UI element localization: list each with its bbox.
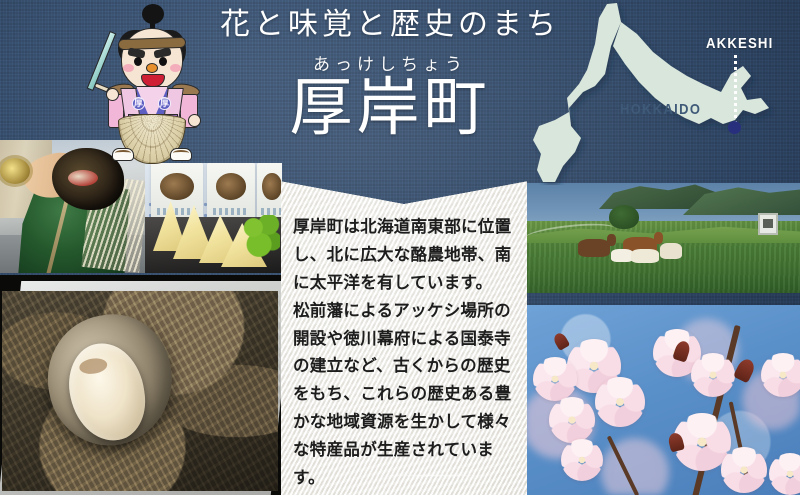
pasture-horse	[578, 239, 610, 257]
map-region-label: HOKKAIDO	[620, 101, 701, 118]
photo-oysters-in-tray	[0, 275, 282, 495]
mascot-nose	[146, 63, 158, 73]
pasture-horse	[660, 243, 682, 259]
description-panel: 厚岸町は北海道南東部に位置し、北に広大な酪農地帯、南に太平洋を有しています。 松…	[281, 170, 527, 495]
title-block: 花と味覚と歴史のまち あっけしちょう 厚岸町	[210, 8, 570, 140]
description-body: 厚岸町は北海道南東部に位置し、北に広大な酪農地帯、南に太平洋を有しています。 松…	[293, 214, 517, 493]
pasture-horse	[611, 249, 633, 262]
mascot-eye-right	[159, 57, 167, 66]
map-location-marker-dot	[728, 121, 741, 134]
sakura-blossom	[761, 353, 800, 397]
mascot-hand-right	[188, 114, 201, 127]
photo-cheese-wedges	[145, 163, 282, 273]
pasture-horse	[631, 249, 659, 263]
cheese-package	[207, 163, 255, 221]
sakura-blossom	[691, 353, 735, 397]
pasture-signpost	[758, 213, 778, 235]
cheese-package	[257, 163, 282, 221]
photo-horses-on-coastal-pasture	[525, 183, 800, 293]
sakura-blossom	[595, 377, 645, 427]
sakura-blossom	[549, 397, 595, 443]
sakura-blossom	[533, 357, 577, 401]
mascot-cheek-left	[123, 64, 134, 72]
mascot-crest-right: 厚	[158, 97, 171, 110]
map-marker-label: AKKESHI	[706, 35, 773, 52]
tagline: 花と味覚と歴史のまち	[210, 8, 570, 41]
sakura-blossom	[561, 439, 603, 481]
sakura-blossom	[721, 447, 767, 493]
description-paragraph-2: 松前藩によるアッケシ場所の開設や徳川幕府による国泰寺の建立など、古くからの歴史を…	[293, 298, 517, 493]
town-name-reading: あっけしちょう	[210, 50, 570, 75]
photo-cherry-blossoms	[525, 305, 800, 495]
mascot-sandal-strap-right	[173, 150, 189, 156]
map-leader-dotted-line	[734, 55, 737, 125]
town-name: 厚岸町	[210, 77, 570, 140]
mascot-character: 厚 厚	[96, 2, 208, 164]
mascot-eye-left	[134, 57, 142, 66]
pasture-tree	[609, 205, 639, 229]
poster-canvas: HOKKAIDO AKKESHI 花と味覚と歴史のまち あっけしちょう 厚岸町 …	[0, 0, 800, 495]
cheese-parsley-garnish	[242, 215, 280, 257]
festival-gold-ornament	[0, 158, 30, 184]
mascot-crest-left: 厚	[132, 97, 145, 110]
mascot-sandal-strap-left	[115, 150, 131, 156]
description-paragraph-1: 厚岸町は北海道南東部に位置し、北に広大な酪農地帯、南に太平洋を有しています。	[293, 214, 517, 298]
mascot-cheek-right	[170, 64, 181, 72]
mascot-hand-left	[106, 88, 119, 101]
